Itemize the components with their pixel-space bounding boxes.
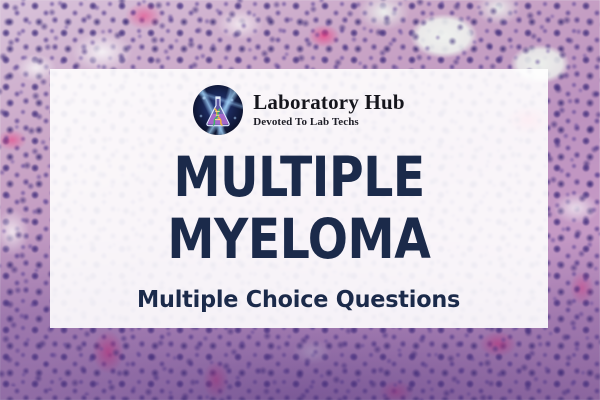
title-line-2: MYELOMA [168, 213, 431, 267]
featured-image-canvas: Laboratory Hub Devoted To Lab Techs MULT… [0, 0, 600, 400]
brand-tagline: Devoted To Lab Techs [253, 117, 405, 128]
lightning-flask-dna-icon [193, 85, 243, 135]
brand-text: Laboratory Hub Devoted To Lab Techs [253, 92, 405, 128]
brand-lockup: Laboratory Hub Devoted To Lab Techs [193, 85, 405, 135]
title-card: Laboratory Hub Devoted To Lab Techs MULT… [50, 69, 548, 328]
subtitle: Multiple Choice Questions [137, 287, 460, 313]
brand-name: Laboratory Hub [253, 92, 405, 113]
title-line-1: MULTIPLE [173, 151, 424, 205]
